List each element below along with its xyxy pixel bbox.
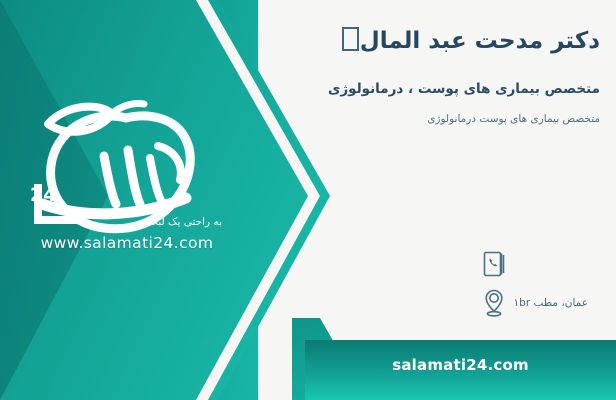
- contact-address-label: عمان، مطب ۱br: [514, 297, 588, 309]
- doctor-name-text: دكتر مدحت عبد المال: [360, 28, 600, 54]
- contact-list: عمان، مطب ۱br: [478, 248, 594, 326]
- specialty-secondary-text: متخصص بیماری های پوست درمانولوژی: [270, 112, 600, 128]
- profile-content: دكتر مدحت عبد المال متخصص بیماری های پوس…: [270, 26, 600, 128]
- map-pin-icon[interactable]: [478, 287, 510, 319]
- missing-glyph-box-icon: [342, 27, 359, 51]
- contact-row-address[interactable]: عمان، مطب ۱br: [478, 287, 594, 319]
- contact-row-phone[interactable]: [478, 248, 594, 280]
- salamati24-logo[interactable]: 24 به راحتی یک لبخند www.salamati24.com: [8, 92, 246, 272]
- specialty-primary-text: متخصص بیماری های پوست ، درمانولوژی: [270, 79, 600, 99]
- logo-tagline: به راحتی یک لبخند: [143, 216, 222, 228]
- footer-website-bar[interactable]: salamati24.com: [305, 340, 616, 400]
- logo-24-badge: 24: [30, 184, 56, 206]
- footer-website-text: salamati24.com: [392, 356, 529, 374]
- business-card: 24 به راحتی یک لبخند www.salamati24.com …: [0, 0, 616, 400]
- doctor-name-heading: دكتر مدحت عبد المال: [270, 26, 600, 57]
- phone-book-icon[interactable]: [478, 248, 510, 280]
- logo-website-url[interactable]: www.salamati24.com: [8, 234, 246, 252]
